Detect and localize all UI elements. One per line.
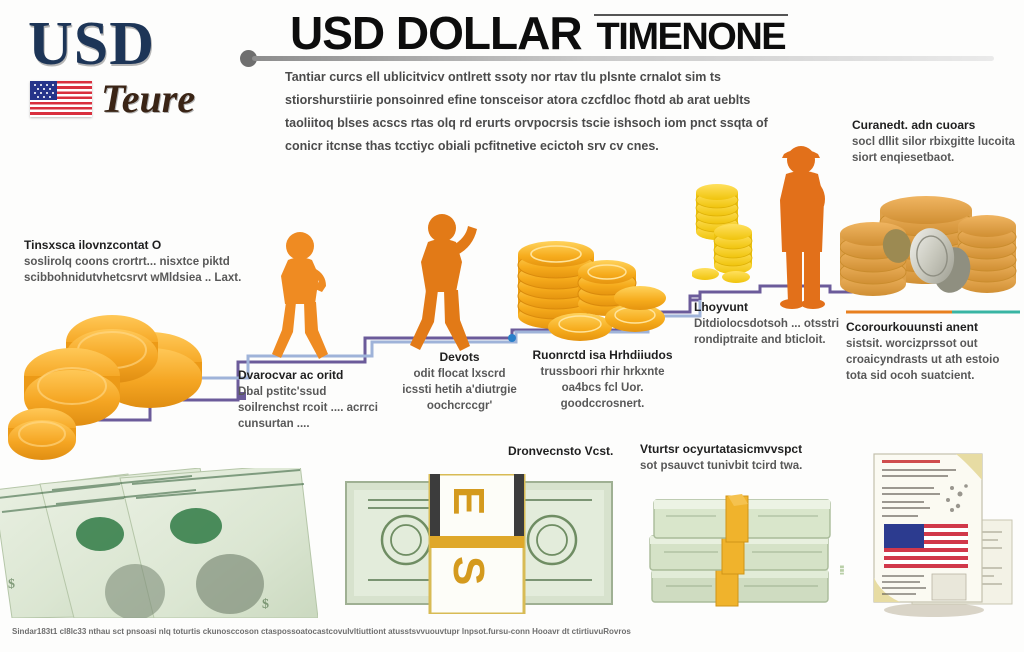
text-block-step5: Ccorourkouunsti anent sistsit. worcizprs… — [846, 320, 1016, 384]
svg-text:$: $ — [262, 597, 269, 612]
banded-dollar-bill: E S — [338, 474, 620, 614]
text-block-left: Tinsxsca ilovnzcontat O soslirolq coons … — [24, 238, 249, 286]
text-block-step1: Dvarocvar ac oritd Dbal pstitc'ssud soil… — [238, 368, 383, 432]
intro-paragraph: Tantiar curcs ell ublicitvicv ontlrett s… — [285, 66, 785, 158]
title-divider — [252, 56, 994, 61]
orange-walking-person-icon — [398, 210, 482, 360]
orange-standing-person-icon — [768, 138, 838, 310]
yellow-coin-stack — [692, 178, 762, 288]
svg-text:S: S — [444, 556, 493, 585]
text-block-left-body: soslirolq coons crortrt... nisxtce piktd… — [24, 254, 249, 286]
text-block-bottom2-body: sot psauvct tunivbit tcird twa. — [640, 458, 845, 474]
page-title: USD DOLLARTIMENONE — [290, 6, 788, 60]
text-block-top-right-title: Curanedt. adn cuoars — [852, 118, 1017, 132]
text-block-left-title: Tinsxsca ilovnzcontat O — [24, 238, 249, 252]
text-block-step1-title: Dvarocvar ac oritd — [238, 368, 383, 382]
text-block-step4-title: Lhoyvunt — [694, 300, 844, 314]
text-block-bottom1-title: Dronvecnsto Vcst. — [508, 444, 628, 458]
newspaper-with-us-flag — [860, 448, 1018, 618]
logo-secondary-text: Teure — [101, 80, 195, 118]
text-block-step3: Ruonrctd isa Hrhdiiudos trussboori rhir … — [520, 348, 685, 412]
svg-text:E: E — [444, 486, 493, 515]
us-flag-icon — [30, 81, 92, 117]
title-sub: TIMENONE — [594, 14, 789, 60]
text-block-step1-body: Dbal pstitc'ssud soilrenchst rcoit .... … — [238, 384, 383, 432]
text-block-bottom2-title: Vturtsr ocyurtatasicmvvspct — [640, 442, 845, 456]
text-block-step2-body: odit flocat lxscrd icssti hetih a'diutrg… — [402, 366, 517, 414]
text-block-top-right-body: socl dllit silor rbixgitte lucoita siort… — [852, 134, 1017, 166]
gold-coin-stack — [500, 232, 695, 347]
text-block-step5-title: Ccorourkouunsti anent — [846, 320, 1016, 334]
text-block-step2-title: Devots — [402, 350, 517, 364]
infographic-canvas: USD Teure USD DOLLARTIMENONE Tantiar cur… — [0, 0, 1024, 652]
text-block-step3-body: trussboori rhir hrkxnte oa4bcs fcl Uor. … — [520, 364, 685, 412]
svg-text:$: $ — [8, 577, 15, 592]
stacked-cash-bundles — [646, 492, 836, 612]
text-block-step4: Lhoyvunt Ditdiolocsdotsoh ... otsstri ro… — [694, 300, 844, 348]
text-block-step4-body: Ditdiolocsdotsoh ... otsstri rondiptrait… — [694, 316, 844, 348]
text-block-step2: Devots odit flocat lxscrd icssti hetih a… — [402, 350, 517, 414]
text-block-top-right: Curanedt. adn cuoars socl dllit silor rb… — [852, 118, 1017, 166]
text-block-step3-title: Ruonrctd isa Hrhdiiudos — [520, 348, 685, 362]
text-block-step5-body: sistsit. worcizprssot out croaicyndrasts… — [846, 336, 1016, 384]
text-block-bottom1: Dronvecnsto Vcst. — [508, 444, 628, 460]
orange-walking-person-icon — [264, 228, 340, 368]
tan-coin-stack-with-silver — [840, 188, 1022, 310]
dollar-bills-fanned: $$ — [0, 468, 318, 618]
large-gold-coins — [0, 300, 240, 470]
title-main: USD DOLLAR — [290, 7, 582, 59]
logo-primary-text: USD — [22, 12, 237, 76]
footer-note: Sindar183t1 cl8lc33 nthau sct pnsoasi nl… — [12, 626, 1012, 637]
brand-logo: USD Teure — [22, 12, 237, 142]
text-block-bottom2: Vturtsr ocyurtatasicmvvspct sot psauvct … — [640, 442, 845, 474]
